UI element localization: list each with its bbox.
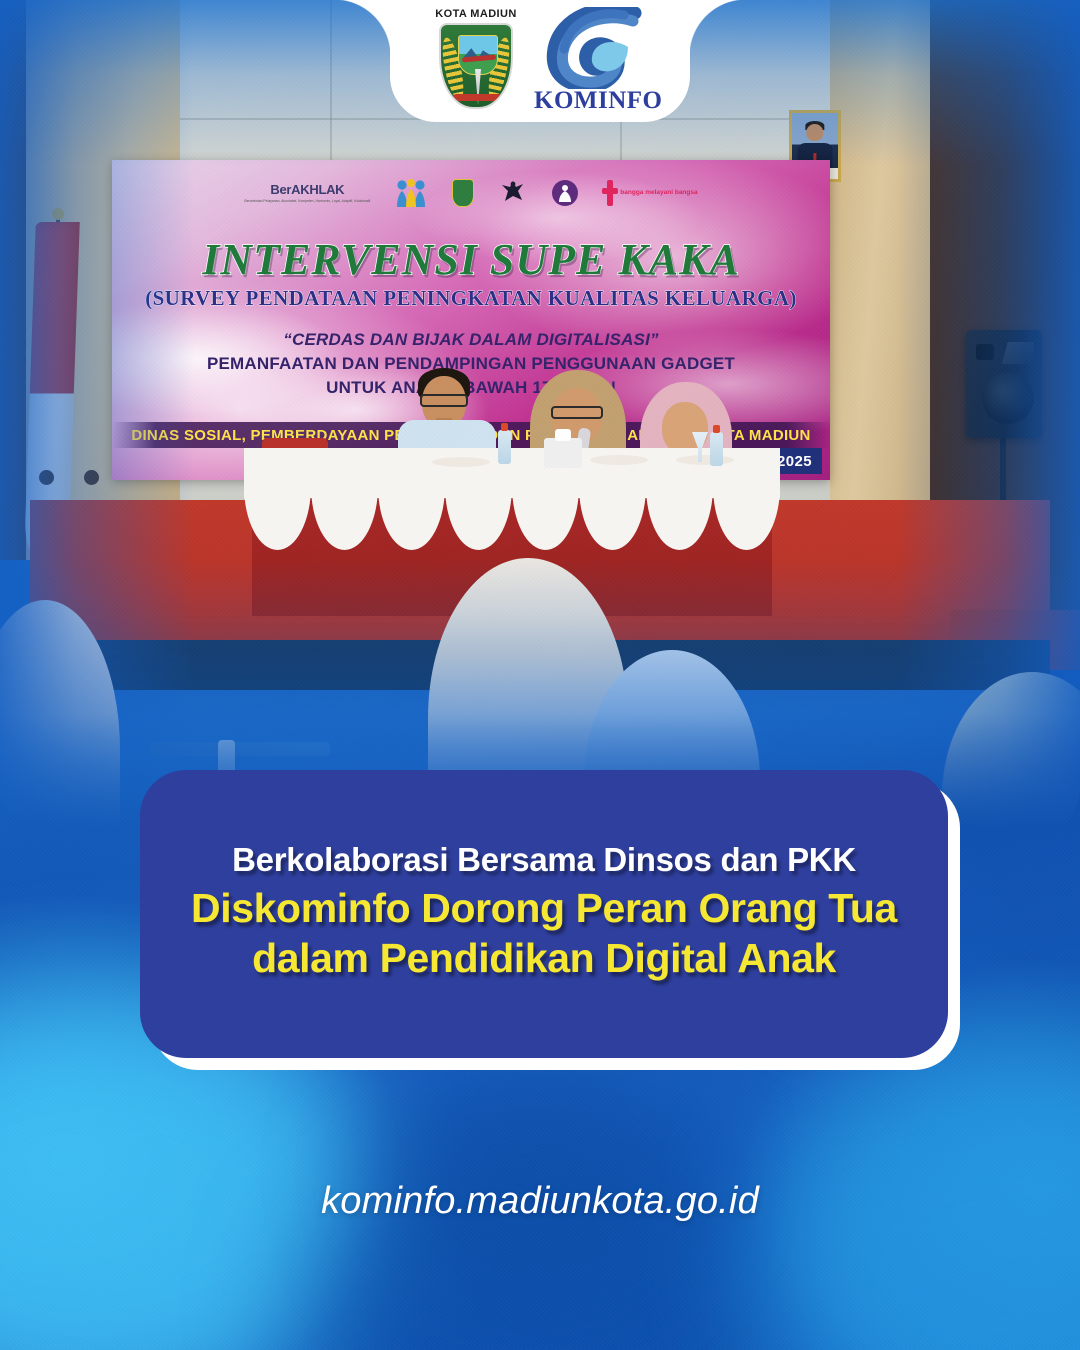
kominfo-logo: KOMINFO [534, 7, 652, 115]
headline-title: Diskominfo Dorong Peran Orang Tua dalam … [186, 883, 902, 983]
website-url: kominfo.madiunkota.go.id [0, 1180, 1080, 1223]
kota-madiun-coat-of-arms-icon: KOTA MADIUN [428, 8, 524, 114]
poster-canvas: BerAKHLAK Berorientasi Pelayanan, Akunta… [0, 0, 1080, 1350]
event-photo: BerAKHLAK Berorientasi Pelayanan, Akunta… [0, 0, 1080, 830]
kominfo-wordmark: KOMINFO [534, 87, 652, 115]
headline-card: Berkolaborasi Bersama Dinsos dan PKK Dis… [140, 770, 948, 1058]
event-photo-content: BerAKHLAK Berorientasi Pelayanan, Akunta… [0, 0, 1080, 830]
crest-label: KOTA MADIUN [428, 8, 524, 20]
logo-header-notch: KOTA MADIUN KOMIN [390, 0, 690, 122]
photo-grain-texture [0, 0, 1080, 830]
headline-kicker: Berkolaborasi Bersama Dinsos dan PKK [232, 841, 856, 880]
kominfo-wave-logo-icon [538, 7, 648, 94]
